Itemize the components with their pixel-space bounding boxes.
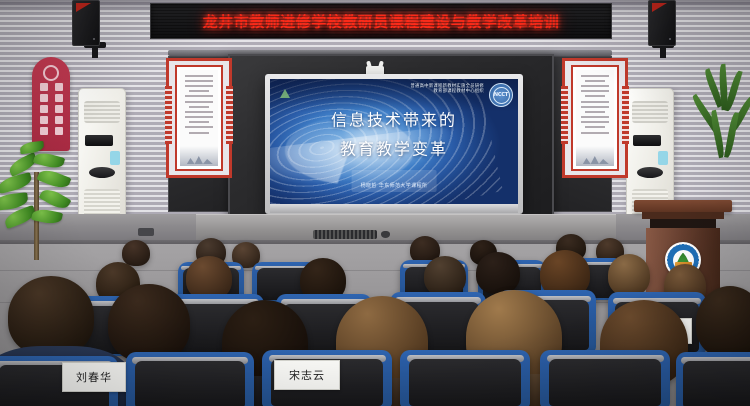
seat-placard: 宋志云	[274, 360, 340, 390]
slide-header-line2: 教育部课程教材中心组织	[410, 89, 484, 94]
speaker-left-post	[92, 46, 98, 58]
audience-head	[696, 286, 750, 358]
auditorium-seat[interactable]	[540, 350, 670, 406]
slide-title-line1: 信息技术带来的	[270, 107, 518, 131]
keyboard-icon[interactable]	[313, 230, 377, 239]
arch-sign-emblem-icon	[43, 65, 59, 81]
display-bezel-bottom	[270, 204, 518, 213]
speaker-right-post	[660, 46, 666, 58]
speaker-right-led	[669, 38, 671, 40]
led-banner: 龙井市教师进修学校教研员课程建设与教学改革培训	[150, 3, 612, 39]
seat-placard-name: 刘春华	[76, 369, 112, 385]
potted-plant-right	[690, 58, 750, 208]
stage-riser	[196, 214, 616, 243]
seat-placard: 刘春华	[62, 362, 126, 392]
desk-clutter	[138, 228, 154, 236]
seat-placard-name: 宋志云	[289, 367, 325, 383]
speaker-left-accent	[76, 3, 91, 12]
led-scanline-overlay	[151, 4, 611, 38]
speaker-left-led	[93, 38, 95, 40]
speaker-right-icon	[648, 0, 676, 46]
slide-title-line2: 教育教学变革	[270, 136, 518, 160]
slide-credit-text: 杨晓哲 华东师范大学课程所	[361, 183, 428, 189]
auditorium-seat[interactable]	[126, 352, 254, 406]
lecture-hall-photo: 龙井市教师进修学校教研员课程建设与教学改革培训	[0, 0, 750, 406]
speaker-left-icon	[72, 0, 100, 46]
speaker-right-accent	[652, 3, 667, 12]
audience-head	[8, 276, 94, 356]
display-screen[interactable]: 普通高中新课程新教材实施全员研修 教育部课程教材中心组织 NCCT 信息技术带来…	[270, 79, 518, 204]
wall-poster-left	[166, 58, 232, 178]
slide-title: 信息技术带来的 教育教学变革	[270, 107, 518, 160]
audience-head	[476, 252, 520, 294]
slide-credit: 杨晓哲 华东师范大学课程所	[352, 170, 437, 192]
ncct-badge-text: NCCT	[494, 92, 508, 98]
slide-header: 普通高中新课程新教材实施全员研修 教育部课程教材中心组织	[410, 84, 484, 95]
audience-head	[122, 240, 150, 266]
ncct-badge-icon: NCCT	[489, 83, 513, 107]
presentation-slide: 普通高中新课程新教材实施全员研修 教育部课程教材中心组织 NCCT 信息技术带来…	[270, 79, 518, 204]
wall-poster-right	[562, 58, 628, 178]
mouse-icon[interactable]	[381, 231, 390, 238]
slide-corner-logo-icon	[280, 89, 290, 98]
auditorium-seat[interactable]	[400, 350, 530, 406]
audience-head	[424, 256, 466, 296]
smart-display[interactable]: 普通高中新课程新教材实施全员研修 教育部课程教材中心组织 NCCT 信息技术带来…	[265, 74, 523, 214]
potted-plant-left	[0, 110, 86, 260]
audience-head	[108, 284, 190, 362]
audience-head	[608, 254, 650, 296]
auditorium-seat[interactable]	[676, 352, 750, 406]
